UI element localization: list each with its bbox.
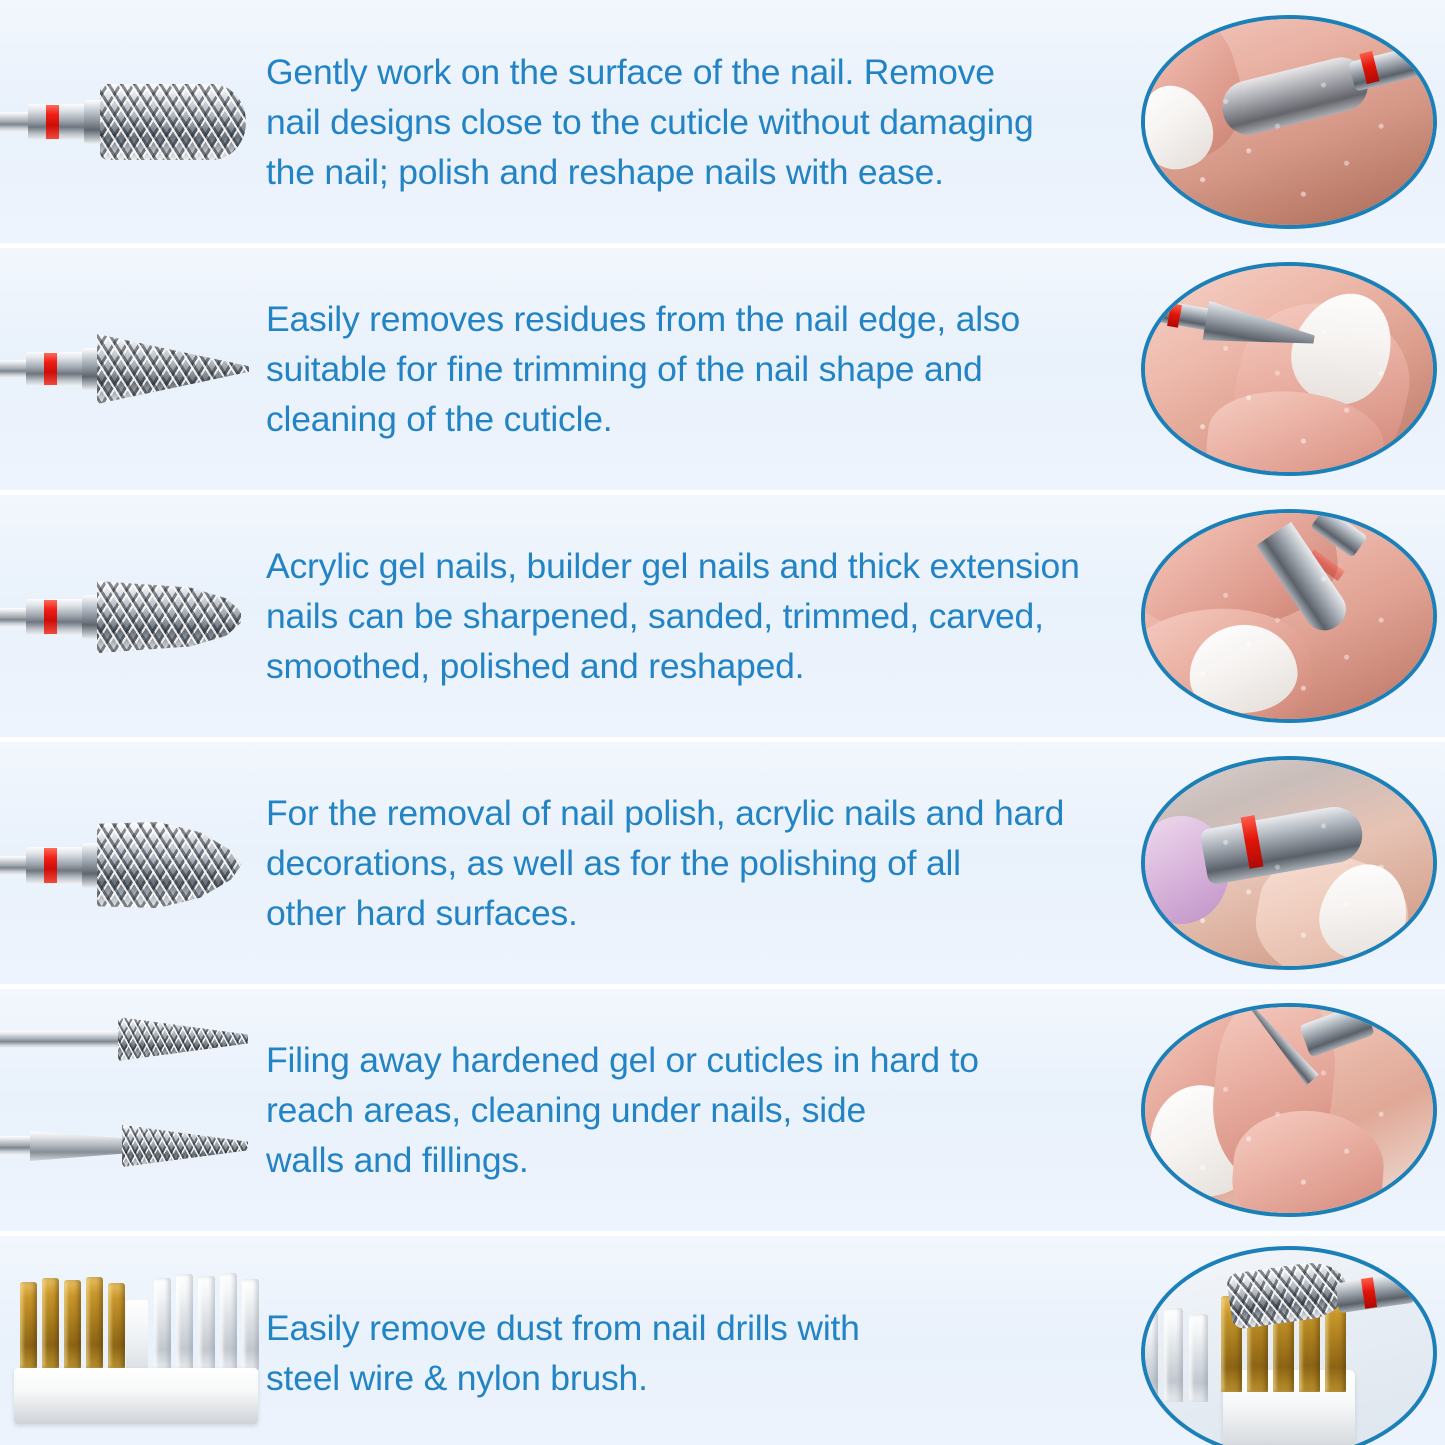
feature-description: Easily remove dust from nail drills with…: [266, 1303, 1435, 1403]
bit-head-needle-upper: [118, 1017, 248, 1061]
bristle-tuft: [176, 1274, 193, 1370]
bristle-tuft: [86, 1277, 103, 1368]
feature-text-container: Gently work on the surface of the nail. …: [252, 47, 1445, 197]
feature-row-barrel-bit: Gently work on the surface of the nail. …: [0, 0, 1445, 243]
bit-neck-lower: [30, 1131, 128, 1161]
bristle-tuft: [220, 1273, 237, 1370]
feature-text-container: Filing away hardened gel or cuticles in …: [252, 1035, 1445, 1185]
brush-white-base: [14, 1368, 258, 1424]
brush-center-ridge: [126, 1300, 148, 1374]
feature-text-container: Easily remove dust from nail drills with…: [252, 1303, 1445, 1403]
bit-illustration-steel-wire-nylon-cleaning-brush: [0, 1236, 252, 1445]
feature-description: Gently work on the surface of the nail. …: [266, 47, 1435, 197]
bit-red-size-band: [46, 105, 59, 139]
bit-red-size-band: [44, 600, 57, 634]
feature-description: Filing away hardened gel or cuticles in …: [266, 1035, 1435, 1185]
bit-ring: [82, 595, 99, 639]
bit-illustration-sharp-cone-carbide-bit: [0, 248, 252, 490]
bit-illustration-tapered-round-top-carbide-bit: [0, 495, 252, 737]
bristle-tuft: [42, 1278, 59, 1368]
bit-head-barrel: [100, 84, 246, 160]
bit-illustration-flame-cone-carbide-bit: [0, 742, 252, 984]
bit-shank: [0, 360, 28, 378]
bit-ring: [82, 348, 99, 390]
bit-shank: [0, 856, 28, 875]
bit-illustration-thin-needle-carbide-bits: [0, 989, 252, 1231]
feature-row-cleaning-brush: Easily remove dust from nail drills with…: [0, 1236, 1445, 1445]
feature-description: For the removal of nail polish, acrylic …: [266, 788, 1435, 938]
bit-head-tapered-round: [97, 581, 247, 653]
feature-text-container: For the removal of nail polish, acrylic …: [252, 788, 1445, 938]
bit-head-needle-lower: [122, 1125, 248, 1167]
bit-head-flame: [97, 822, 249, 908]
bristle-tuft: [20, 1282, 37, 1368]
bit-shank-lower: [0, 1136, 34, 1155]
feature-row-sharp-cone-bit: Easily removes residues from the nail ed…: [0, 248, 1445, 490]
feature-row-tapered-round-bit: Acrylic gel nails, builder gel nails and…: [0, 495, 1445, 737]
bristle-tuft: [64, 1280, 81, 1368]
bit-red-size-band: [44, 353, 57, 385]
feature-description: Acrylic gel nails, builder gel nails and…: [266, 541, 1435, 691]
bit-shank: [0, 608, 28, 627]
feature-text-container: Acrylic gel nails, builder gel nails and…: [252, 541, 1445, 691]
infographic-page: Gently work on the surface of the nail. …: [0, 0, 1445, 1445]
bit-shank: [0, 112, 30, 132]
bristle-tuft: [108, 1283, 125, 1368]
feature-row-flame-bit: For the removal of nail polish, acrylic …: [0, 742, 1445, 984]
bristle-tuft: [198, 1276, 215, 1370]
bit-red-size-band: [44, 848, 57, 883]
feature-description: Easily removes residues from the nail ed…: [266, 294, 1435, 444]
bit-head-sharp-cone: [97, 334, 249, 404]
brush-nylon-bristles: [154, 1274, 259, 1370]
bit-ring: [82, 843, 99, 888]
feature-row-needle-bits: Filing away hardened gel or cuticles in …: [0, 989, 1445, 1231]
brush-brass-bristles: [20, 1276, 125, 1368]
bit-shank-upper: [0, 1031, 128, 1048]
feature-text-container: Easily removes residues from the nail ed…: [252, 294, 1445, 444]
bit-illustration-cylindrical-barrel-carbide-bit: [0, 0, 252, 243]
bristle-tuft: [154, 1278, 171, 1370]
